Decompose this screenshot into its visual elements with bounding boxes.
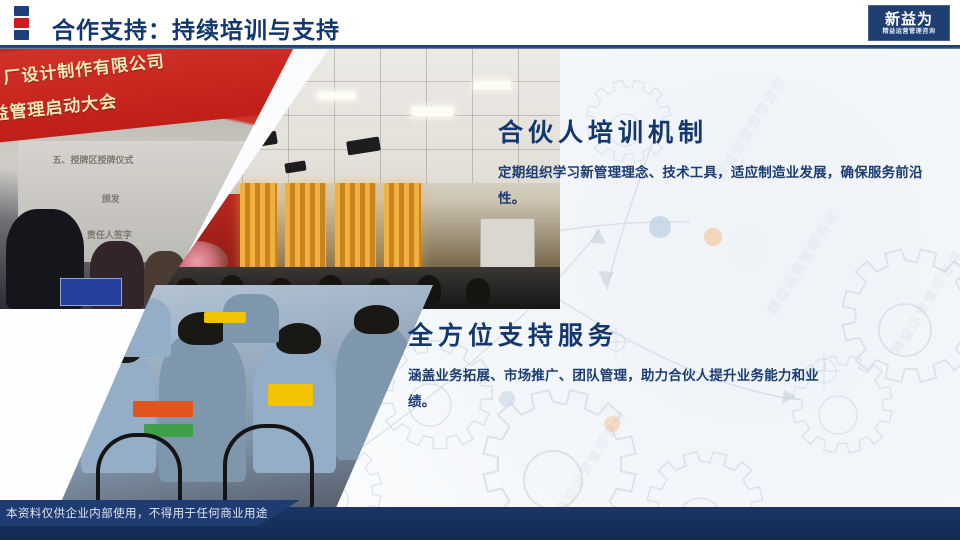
photo1-banner-line-2: 益管理启动大会	[0, 87, 118, 125]
photo1-screen-line-3: 责任人签字	[87, 228, 132, 241]
photo-training-session	[58, 285, 433, 509]
page-title: 合作支持：持续培训与支持	[52, 11, 340, 45]
block-body-support: 涵盖业务拓展、市场推广、团队管理，助力合伙人提升业务能力和业绩。	[408, 363, 844, 416]
footer-notice-tab: 本资料仅供企业内部使用，不得用于任何商业用途	[0, 500, 300, 526]
square-icon-navy-top	[14, 6, 29, 16]
header-decorative-marks	[14, 6, 29, 40]
block-heading-training: 合伙人培训机制	[498, 113, 928, 149]
photo-collage: 五、授牌区授牌仪式 颁发 责任人签字 厂设计制作有限公司 益管理启动大会	[0, 47, 560, 509]
square-icon-red	[14, 18, 29, 28]
block-body-training: 定期组织学习新管理理念、技术工具，适应制造业发展，确保服务前沿性。	[498, 160, 928, 213]
slide-canvas: 精益运营管理咨询 精益运营管理咨询 精益运营管理咨询 精益运营管理咨询 五、授牌…	[0, 0, 960, 540]
photo1-red-banner: 厂设计制作有限公司 益管理启动大会	[0, 47, 294, 146]
square-icon-navy-bottom	[14, 30, 29, 40]
logo-tagline: 精益运营管理咨询	[882, 29, 935, 35]
photo1-banner-line-1: 厂设计制作有限公司	[2, 47, 166, 88]
header-divider	[0, 45, 960, 49]
photo1-screen-line-2: 颁发	[102, 192, 120, 205]
logo-brand-name: 新益为	[885, 12, 933, 27]
photo1-award-plaque	[60, 278, 122, 306]
footer-notice-text: 本资料仅供企业内部使用，不得用于任何商业用途	[6, 505, 268, 521]
slide-header: 合作支持：持续培训与支持 新益为 精益运营管理咨询	[0, 0, 960, 47]
block-heading-support: 全方位支持服务	[408, 316, 844, 352]
company-logo: 新益为 精益运营管理咨询	[868, 5, 950, 41]
photo1-screen-line-1: 五、授牌区授牌仪式	[52, 153, 133, 166]
content-block-support: 全方位支持服务 涵盖业务拓展、市场推广、团队管理，助力合伙人提升业务能力和业绩。	[408, 316, 844, 416]
slide-footer: 本资料仅供企业内部使用，不得用于任何商业用途	[0, 507, 960, 540]
content-block-training: 合伙人培训机制 定期组织学习新管理理念、技术工具，适应制造业发展，确保服务前沿性…	[498, 113, 928, 213]
